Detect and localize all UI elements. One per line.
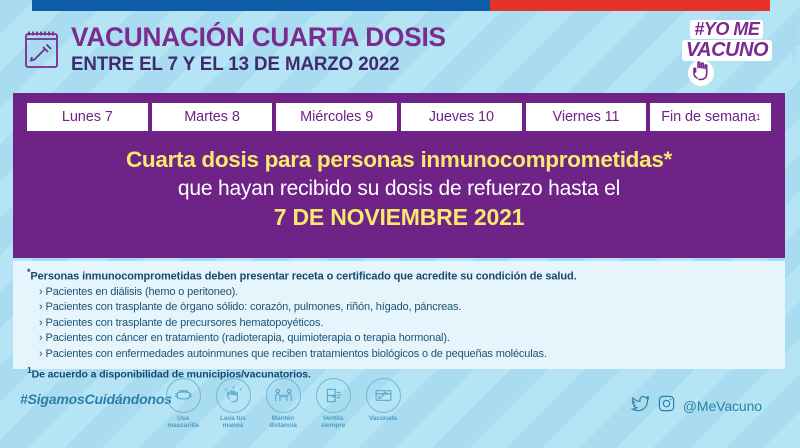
footnote-headline-text: Personas inmunocomprometidas deben prese… [30, 271, 576, 283]
vaccine-card-icon [366, 378, 401, 413]
page-title: VACUNACIÓN CUARTA DOSIS [71, 24, 446, 51]
care-item-mask: Usa mascarilla [163, 378, 203, 430]
social-links[interactable]: @MeVacuno [631, 394, 762, 418]
flag-red-stripe [490, 0, 770, 11]
main-message: Cuarta dosis para personas inmunocomprom… [27, 147, 771, 231]
day-bar: Lunes 7 Martes 8 Miércoles 9 Jueves 10 V… [27, 103, 771, 131]
mask-icon [166, 378, 201, 413]
page-subtitle: ENTRE EL 7 Y EL 13 DE MARZO 2022 [71, 55, 442, 75]
day-label: Martes 8 [184, 109, 240, 125]
list-item-label: Pacientes con trasplante de precursores … [46, 317, 324, 329]
care-item-distance: Mantén distancia [263, 378, 303, 430]
list-item-label: Pacientes con trasplante de órgano sólid… [46, 301, 462, 313]
day-chip-jueves[interactable]: Jueves 10 [401, 103, 522, 131]
list-item-label: Pacientes con cáncer en tratamiento (rad… [46, 332, 450, 344]
social-handle[interactable]: @MeVacuno [683, 398, 762, 414]
footnote-bullet-list: ›Pacientes en diálisis (hemo o peritoneo… [39, 285, 771, 363]
day-chip-viernes[interactable]: Viernes 11 [526, 103, 647, 131]
day-label: Miércoles 9 [300, 109, 373, 125]
logo-line-1: #YO ME [690, 20, 763, 39]
message-line-1: Cuarta dosis para personas inmunocomprom… [27, 147, 771, 174]
chevron-right-icon: › [39, 332, 43, 344]
ventilate-icon [316, 378, 351, 413]
care-item-vaccinate: Vacúnate [363, 378, 403, 430]
flag-bar [32, 0, 770, 11]
twitter-icon[interactable] [631, 394, 650, 418]
day-chip-miercoles[interactable]: Miércoles 9 [276, 103, 397, 131]
chevron-right-icon: › [39, 301, 43, 313]
care-measures: Usa mascarilla Lava tus manos [163, 378, 403, 430]
chevron-right-icon: › [39, 286, 43, 298]
care-label: Lava tus manos [213, 415, 253, 430]
footer-hashtag: #SigamosCuidándonos [20, 391, 172, 407]
list-item: ›Pacientes con trasplante de precursores… [39, 316, 771, 332]
list-item: ›Pacientes con enfermedades autoinmunes … [39, 347, 771, 363]
day-label: Fin de semana [661, 109, 756, 125]
chevron-right-icon: › [39, 348, 43, 360]
list-item-label: Pacientes con enfermedades autoinmunes q… [46, 348, 547, 360]
care-label: Usa mascarilla [163, 415, 203, 430]
yomevacuno-logo: #YO ME VACUNO [684, 20, 772, 92]
care-label: Mantén distancia [263, 415, 303, 430]
day-chip-lunes[interactable]: Lunes 7 [27, 103, 148, 131]
main-panel: Lunes 7 Martes 8 Miércoles 9 Jueves 10 V… [13, 93, 785, 258]
list-item-label: Pacientes en diálisis (hemo o peritoneo)… [46, 286, 239, 298]
message-line-3: 7 DE NOVIEMBRE 2021 [27, 204, 771, 231]
list-item: ›Pacientes en diálisis (hemo o peritoneo… [39, 285, 771, 301]
hand-peace-icon [686, 56, 716, 88]
calendar-syringe-icon [22, 27, 62, 71]
care-item-wash-hands: Lava tus manos [213, 378, 253, 430]
care-label: Ventila siempre [313, 415, 353, 430]
list-item: ›Pacientes con trasplante de órgano sóli… [39, 300, 771, 316]
day-chip-martes[interactable]: Martes 8 [152, 103, 273, 131]
message-line-2: que hayan recibido su dosis de refuerzo … [27, 177, 771, 202]
day-chip-fin-de-semana[interactable]: Fin de semana1 [650, 103, 771, 131]
care-item-ventilate: Ventila siempre [313, 378, 353, 430]
care-label: Vacúnate [363, 415, 403, 422]
footnotes-box: *Personas inmunocomprometidas deben pres… [13, 261, 785, 369]
day-footnote-marker: 1 [756, 113, 760, 122]
header-titles: VACUNACIÓN CUARTA DOSIS ENTRE EL 7 Y EL … [71, 24, 457, 75]
day-label: Viernes 11 [553, 109, 620, 125]
logo-text: #YO ME VACUNO [682, 20, 772, 61]
side-code: CG-18-1-2022 [790, 18, 797, 64]
day-label: Lunes 7 [62, 109, 113, 125]
chevron-right-icon: › [39, 317, 43, 329]
footer: #SigamosCuidándonos Usa mascarilla [0, 372, 800, 448]
list-item: ›Pacientes con cáncer en tratamiento (ra… [39, 331, 771, 347]
footnote-headline: *Personas inmunocomprometidas deben pres… [27, 267, 771, 283]
distance-icon [266, 378, 301, 413]
poster-root: VACUNACIÓN CUARTA DOSIS ENTRE EL 7 Y EL … [0, 0, 800, 448]
flag-blue-stripe [32, 0, 490, 11]
day-label: Jueves 10 [429, 109, 494, 125]
instagram-icon[interactable] [657, 394, 676, 418]
wash-hands-icon [216, 378, 251, 413]
header: VACUNACIÓN CUARTA DOSIS ENTRE EL 7 Y EL … [22, 24, 457, 75]
